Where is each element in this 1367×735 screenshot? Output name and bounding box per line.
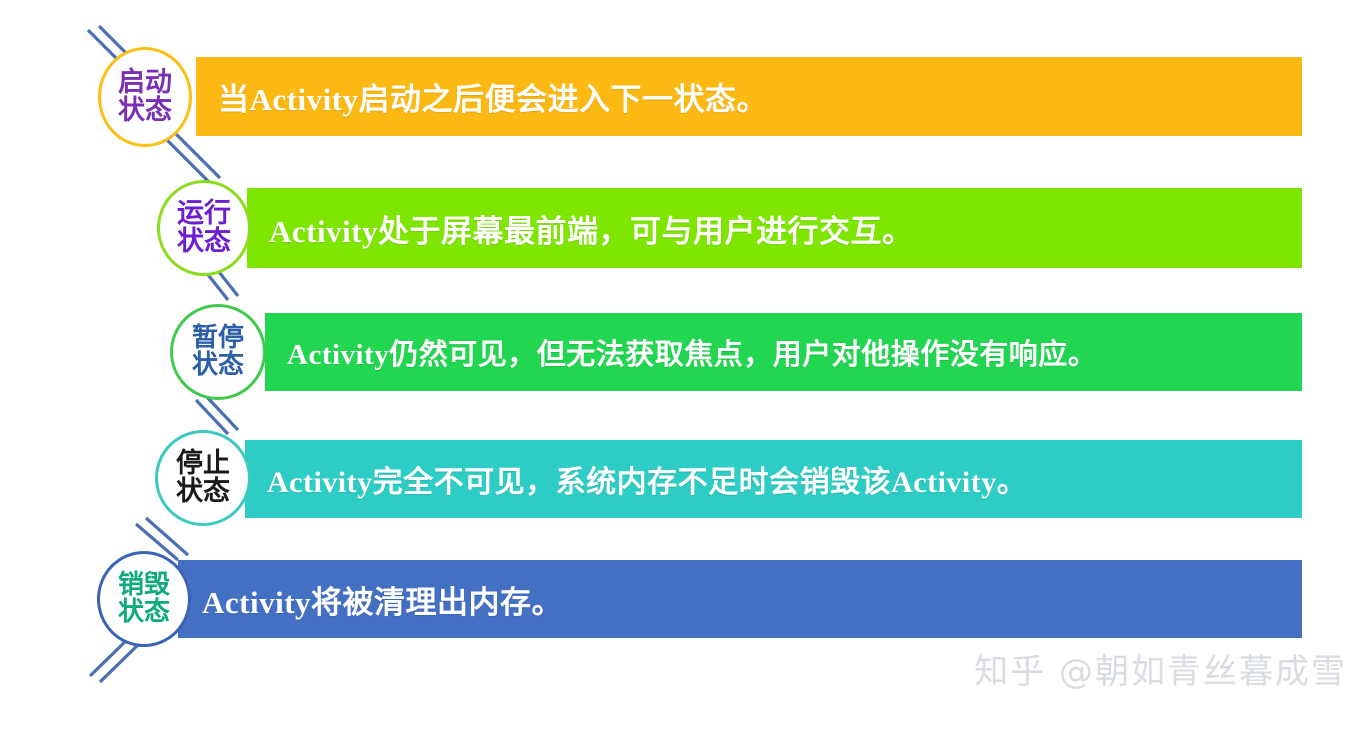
description-bar-1: 当Activity启动之后便会进入下一状态。: [196, 57, 1302, 136]
state-node-running-line2: 状态: [177, 228, 231, 256]
state-node-started[interactable]: 启动 状态: [98, 47, 192, 147]
connector-segment-1-b: [176, 134, 220, 178]
connector-segment-1-a: [166, 139, 210, 183]
state-node-stopped[interactable]: 停止 状态: [155, 430, 251, 526]
connector-segment-3-b: [206, 396, 238, 430]
state-node-destroyed-line2: 状态: [118, 599, 170, 626]
state-node-stopped-line1: 停止: [176, 450, 230, 478]
state-node-paused-line2: 状态: [192, 352, 244, 379]
description-bar-5: Activity将被清理出内存。: [178, 560, 1302, 638]
connector-segment-3-a: [196, 400, 228, 434]
description-text-5: Activity将被清理出内存。: [202, 577, 563, 622]
connector-segment-bottom-b: [100, 642, 141, 682]
state-node-started-line2: 状态: [118, 97, 172, 125]
description-text-4: Activity完全不可见，系统内存不足时会销毁该Activity。: [267, 457, 1027, 501]
description-text-1: 当Activity启动之后便会进入下一状态。: [218, 74, 768, 119]
state-node-destroyed[interactable]: 销毁 状态: [97, 551, 191, 647]
description-text-3: Activity仍然可见，但无法获取焦点，用户对他操作没有响应。: [287, 331, 1097, 373]
description-bar-2: Activity处于屏幕最前端，可与用户进行交互。: [247, 188, 1302, 268]
description-bar-3: Activity仍然可见，但无法获取焦点，用户对他操作没有响应。: [265, 313, 1302, 391]
state-node-destroyed-line1: 销毁: [118, 572, 170, 599]
state-node-running[interactable]: 运行 状态: [157, 180, 251, 276]
description-bar-4: Activity完全不可见，系统内存不足时会销毁该Activity。: [245, 440, 1302, 518]
watermark: 知乎 @朝如青丝暮成雪: [974, 644, 1347, 693]
state-node-paused-line1: 暂停: [192, 325, 244, 352]
diagram-canvas: 当Activity启动之后便会进入下一状态。 启动 状态 Activity处于屏…: [0, 0, 1367, 735]
connector-segment-4-b: [146, 518, 188, 555]
state-node-paused[interactable]: 暂停 状态: [170, 304, 266, 400]
description-text-2: Activity处于屏幕最前端，可与用户进行交互。: [269, 206, 914, 251]
state-node-started-line1: 启动: [118, 69, 172, 97]
state-node-stopped-line2: 状态: [176, 478, 230, 506]
state-node-running-line1: 运行: [177, 200, 231, 228]
